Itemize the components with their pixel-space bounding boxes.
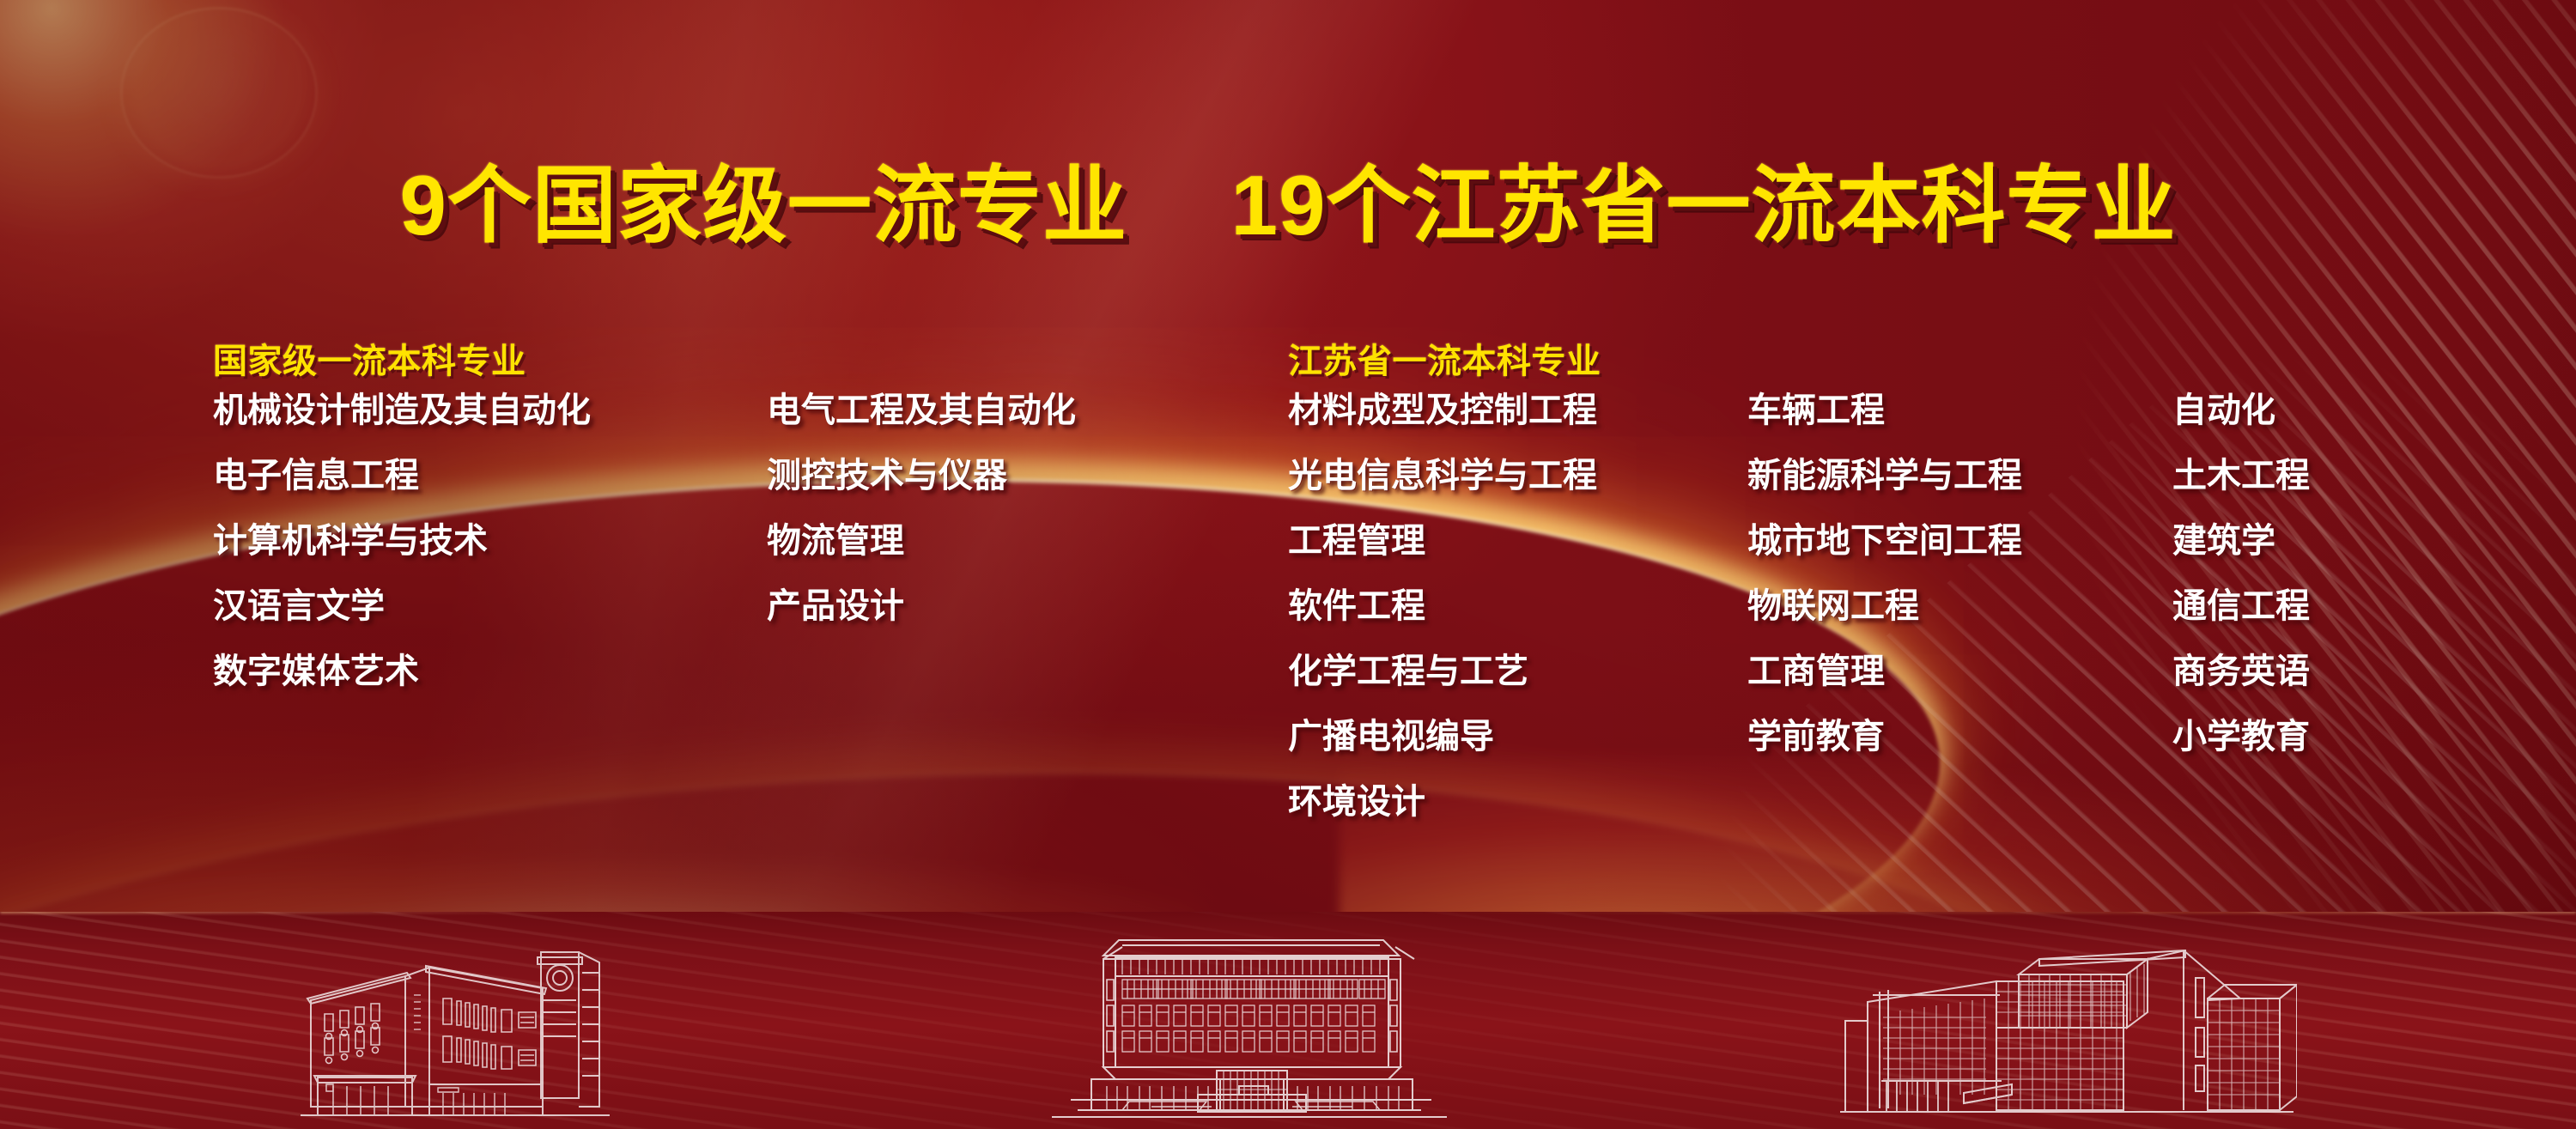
province-column-1: 材料成型及控制工程 光电信息科学与工程 工程管理 软件工程 化学工程与工艺 广播… [1288,390,1747,847]
headline-part-province: 19个江苏省一流本科专业 [1230,158,2176,252]
major-item: 物联网工程 [1747,586,2172,627]
major-item: 土木工程 [2172,455,2542,496]
major-item: 广播电视编导 [1288,716,1747,757]
section-national-columns: 机械设计制造及其自动化 电子信息工程 计算机科学与技术 汉语言文学 数字媒体艺术… [213,390,1248,716]
major-item: 电气工程及其自动化 [767,390,1248,431]
major-item: 电子信息工程 [213,455,767,496]
major-item: 数字媒体艺术 [213,651,767,692]
page-headline: 9个国家级一流专业 19个江苏省一流本科专业 [0,137,2576,259]
major-item: 通信工程 [2172,586,2542,627]
major-item: 工商管理 [1747,651,2172,692]
major-item: 车辆工程 [1747,390,2172,431]
major-item: 材料成型及控制工程 [1288,390,1747,431]
major-item: 城市地下空间工程 [1747,520,2172,561]
section-province: 江苏省一流本科专业 材料成型及控制工程 光电信息科学与工程 工程管理 软件工程 … [1288,333,2542,847]
province-column-3: 自动化 土木工程 建筑学 通信工程 商务英语 小学教育 [2172,390,2542,847]
major-item: 产品设计 [767,586,1248,627]
national-column-2: 电气工程及其自动化 测控技术与仪器 物流管理 产品设计 [767,390,1248,716]
major-item: 软件工程 [1288,586,1747,627]
major-item: 计算机科学与技术 [213,520,767,561]
major-item: 光电信息科学与工程 [1288,455,1747,496]
section-national: 国家级一流本科专业 机械设计制造及其自动化 电子信息工程 计算机科学与技术 汉语… [213,333,1248,716]
national-column-1: 机械设计制造及其自动化 电子信息工程 计算机科学与技术 汉语言文学 数字媒体艺术 [213,390,767,716]
major-item: 新能源科学与工程 [1747,455,2172,496]
section-title-national: 国家级一流本科专业 [213,333,1248,383]
major-item: 小学教育 [2172,716,2542,757]
poster-banner: 9个国家级一流专业 19个江苏省一流本科专业 国家级一流本科专业 机械设计制造及… [0,0,2576,1129]
major-item: 自动化 [2172,390,2542,431]
major-item: 商务英语 [2172,651,2542,692]
section-title-province: 江苏省一流本科专业 [1288,333,2542,383]
major-item: 汉语言文学 [213,586,767,627]
province-column-2: 车辆工程 新能源科学与工程 城市地下空间工程 物联网工程 工商管理 学前教育 [1747,390,2172,847]
major-item: 建筑学 [2172,520,2542,561]
major-item: 机械设计制造及其自动化 [213,390,767,431]
major-item: 化学工程与工艺 [1288,651,1747,692]
major-item: 测控技术与仪器 [767,455,1248,496]
major-item: 物流管理 [767,520,1248,561]
major-item: 工程管理 [1288,520,1747,561]
content-layer: 9个国家级一流专业 19个江苏省一流本科专业 国家级一流本科专业 机械设计制造及… [0,0,2576,1129]
headline-part-national: 9个国家级一流专业 [400,158,1128,252]
major-item: 环境设计 [1288,781,1747,822]
section-province-columns: 材料成型及控制工程 光电信息科学与工程 工程管理 软件工程 化学工程与工艺 广播… [1288,390,2542,847]
major-item: 学前教育 [1747,716,2172,757]
